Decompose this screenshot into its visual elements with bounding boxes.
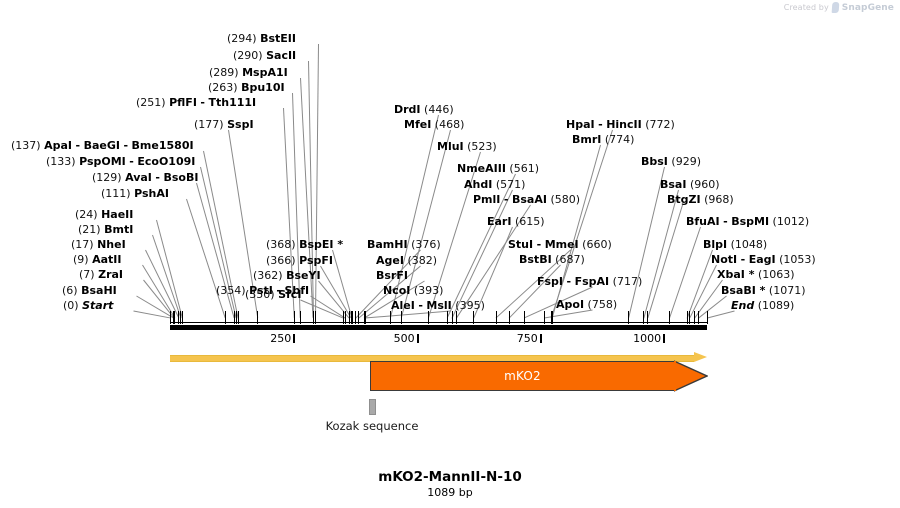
site-label-stui-mmei[interactable]: StuI - MmeI (660) bbox=[508, 239, 612, 250]
restriction-tick[interactable] bbox=[236, 311, 237, 324]
restriction-tick[interactable] bbox=[178, 311, 179, 324]
restriction-tick[interactable] bbox=[390, 311, 391, 324]
watermark-prefix: Created by bbox=[784, 3, 829, 12]
site-label-xbai[interactable]: XbaI * (1063) bbox=[717, 269, 795, 280]
site-label-bsahi[interactable]: (6) BsaHI bbox=[62, 285, 117, 296]
page-title: mKO2-MannII-N-10 bbox=[378, 469, 522, 485]
site-label-bstell[interactable]: (294) BstEII bbox=[227, 33, 296, 44]
restriction-tick[interactable] bbox=[358, 311, 359, 324]
axis-tick-label: 750 bbox=[517, 332, 540, 345]
site-label-avai-bsobi[interactable]: (129) AvaI - BsoBI bbox=[92, 172, 198, 183]
site-label-end[interactable]: End (1089) bbox=[731, 300, 794, 311]
restriction-tick[interactable] bbox=[628, 311, 629, 324]
restriction-tick[interactable] bbox=[257, 311, 258, 324]
feature-mko2-arrowhead-icon bbox=[674, 359, 708, 393]
restriction-tick[interactable] bbox=[509, 311, 510, 324]
site-label-bmri[interactable]: BmrI (774) bbox=[572, 134, 634, 145]
leader-line bbox=[332, 250, 352, 318]
site-label-drdi[interactable]: DrdI (446) bbox=[394, 104, 454, 115]
restriction-tick[interactable] bbox=[343, 311, 344, 324]
leader-line bbox=[145, 250, 179, 318]
sequence-backbone[interactable] bbox=[170, 325, 707, 330]
restriction-tick[interactable] bbox=[300, 311, 301, 324]
restriction-tick[interactable] bbox=[349, 311, 350, 324]
site-label-bspei[interactable]: (368) BspEI * bbox=[266, 239, 343, 250]
site-label-bseyi[interactable]: (362) BseYI bbox=[253, 270, 321, 281]
feature-kozak-label: Kozak sequence bbox=[326, 419, 419, 433]
site-label-bstbi[interactable]: BstBI (687) bbox=[519, 254, 585, 265]
restriction-tick[interactable] bbox=[689, 311, 690, 324]
site-label-ncoi[interactable]: NcoI (393) bbox=[383, 285, 443, 296]
restriction-tick[interactable] bbox=[355, 311, 356, 324]
site-label-bsrfi[interactable]: BsrFI bbox=[376, 270, 408, 281]
site-label-blpi[interactable]: BlpI (1048) bbox=[703, 239, 767, 250]
site-label-fspi-fspai[interactable]: FspI - FspAI (717) bbox=[537, 276, 642, 287]
snapgene-linear-map: Created by SnapGene (294) BstEII (290) S… bbox=[0, 0, 900, 508]
site-label-hpai-hincii[interactable]: HpaI - HincII (772) bbox=[566, 119, 675, 130]
site-label-psti-sbfi[interactable]: (354) PstI - SbfI bbox=[216, 285, 309, 296]
restriction-tick[interactable] bbox=[401, 311, 402, 324]
leader-line bbox=[156, 220, 183, 318]
site-label-eari[interactable]: EarI (615) bbox=[487, 216, 545, 227]
axis-tick-label: 250 bbox=[270, 332, 293, 345]
restriction-tick[interactable] bbox=[456, 311, 457, 324]
axis-tick-label: 500 bbox=[394, 332, 417, 345]
snapgene-watermark: Created by SnapGene bbox=[784, 2, 894, 13]
axis-tick-mark bbox=[293, 334, 295, 343]
site-label-btgzi[interactable]: BtgZI (968) bbox=[667, 194, 734, 205]
site-label-pmli-bsaai[interactable]: PmlI - BsaAI (580) bbox=[473, 194, 580, 205]
restriction-tick[interactable] bbox=[234, 311, 235, 324]
site-label-pspfi[interactable]: (366) PspFI bbox=[266, 255, 333, 266]
restriction-tick[interactable] bbox=[447, 311, 448, 324]
site-label-bmti[interactable]: (21) BmtI bbox=[78, 224, 133, 235]
site-label-agei[interactable]: AgeI (382) bbox=[376, 255, 437, 266]
restriction-tick[interactable] bbox=[647, 311, 648, 324]
restriction-tick[interactable] bbox=[182, 311, 183, 324]
restriction-tick[interactable] bbox=[174, 311, 175, 324]
site-label-zrai[interactable]: (7) ZraI bbox=[79, 269, 123, 280]
site-label-bpu10i[interactable]: (263) Bpu10I bbox=[208, 82, 285, 93]
restriction-tick[interactable] bbox=[643, 311, 644, 324]
watermark-brand: SnapGene bbox=[842, 3, 894, 13]
restriction-tick[interactable] bbox=[707, 311, 708, 324]
restriction-tick[interactable] bbox=[225, 311, 226, 324]
site-label-bsabi[interactable]: BsaBI * (1071) bbox=[721, 285, 806, 296]
restriction-tick[interactable] bbox=[687, 311, 688, 324]
leader-line bbox=[647, 205, 683, 318]
axis-tick-label: 1000 bbox=[633, 332, 663, 345]
site-label-pspomi-ecoo109i[interactable]: (133) PspOMI - EcoO109I bbox=[46, 156, 195, 167]
site-label-pshai[interactable]: (111) PshAI bbox=[101, 188, 169, 199]
site-label-pflfi-tth111i[interactable]: (251) PflFI - Tth111I bbox=[136, 97, 256, 108]
site-label-bamhi[interactable]: BamHI (376) bbox=[367, 239, 441, 250]
site-label-haeii[interactable]: (24) HaeII bbox=[75, 209, 133, 220]
feature-mko2-label: mKO2 bbox=[370, 361, 675, 391]
leader-line bbox=[643, 190, 679, 318]
site-label-apai-baegi-bme1580i[interactable]: (137) ApaI - BaeGI - Bme1580I bbox=[11, 140, 194, 151]
backbone-top-line bbox=[170, 322, 707, 323]
site-label-bfuai-bspmi[interactable]: BfuAI - BspMI (1012) bbox=[686, 216, 809, 227]
axis-tick-mark bbox=[417, 334, 419, 343]
restriction-tick[interactable] bbox=[669, 311, 670, 324]
restriction-tick[interactable] bbox=[452, 311, 453, 324]
site-label-alei-msli[interactable]: AleI - MslI (395) bbox=[391, 300, 485, 311]
site-label-bsai[interactable]: BsaI (960) bbox=[660, 179, 720, 190]
site-label-mfei[interactable]: MfeI (468) bbox=[404, 119, 464, 130]
site-label-sspi[interactable]: (177) SspI bbox=[194, 119, 254, 130]
restriction-tick[interactable] bbox=[170, 311, 171, 324]
site-label-start[interactable]: (0) Start bbox=[63, 300, 113, 311]
leader-line bbox=[552, 145, 601, 318]
restriction-tick[interactable] bbox=[238, 311, 239, 324]
restriction-tick[interactable] bbox=[313, 311, 314, 324]
restriction-tick[interactable] bbox=[345, 311, 346, 324]
site-label-nmeaiii[interactable]: NmeAIII (561) bbox=[457, 163, 539, 174]
site-label-sacii[interactable]: (290) SacII bbox=[233, 50, 296, 61]
site-label-ahdi[interactable]: AhdI (571) bbox=[464, 179, 525, 190]
site-label-nhei[interactable]: (17) NheI bbox=[71, 239, 126, 250]
restriction-tick[interactable] bbox=[544, 311, 545, 324]
restriction-tick[interactable] bbox=[294, 311, 295, 324]
site-label-aatii[interactable]: (9) AatII bbox=[73, 254, 121, 265]
feature-kozak-marker[interactable] bbox=[369, 399, 376, 415]
axis-tick-mark bbox=[540, 334, 542, 343]
restriction-tick[interactable] bbox=[552, 311, 553, 324]
axis-tick-mark bbox=[663, 334, 665, 343]
restriction-tick[interactable] bbox=[496, 311, 497, 324]
site-label-noti-eagi[interactable]: NotI - EagI (1053) bbox=[711, 254, 816, 265]
restriction-tick[interactable] bbox=[473, 311, 474, 324]
restriction-tick[interactable] bbox=[428, 311, 429, 324]
snapgene-logo-icon bbox=[831, 2, 839, 13]
restriction-tick[interactable] bbox=[524, 311, 525, 324]
restriction-tick[interactable] bbox=[315, 311, 316, 324]
site-label-apoi[interactable]: ApoI (758) bbox=[556, 299, 617, 310]
site-label-mlui[interactable]: MluI (523) bbox=[437, 141, 497, 152]
feature-mko2[interactable]: mKO2 bbox=[370, 361, 707, 391]
site-label-mspa1i[interactable]: (289) MspA1I bbox=[209, 67, 288, 78]
restriction-tick[interactable] bbox=[694, 311, 695, 324]
restriction-tick[interactable] bbox=[365, 311, 366, 324]
site-label-bbsi[interactable]: BbsI (929) bbox=[641, 156, 701, 167]
plasmid-size-label: 1089 bp bbox=[427, 486, 472, 499]
restriction-tick[interactable] bbox=[698, 311, 699, 324]
restriction-tick[interactable] bbox=[352, 311, 353, 324]
